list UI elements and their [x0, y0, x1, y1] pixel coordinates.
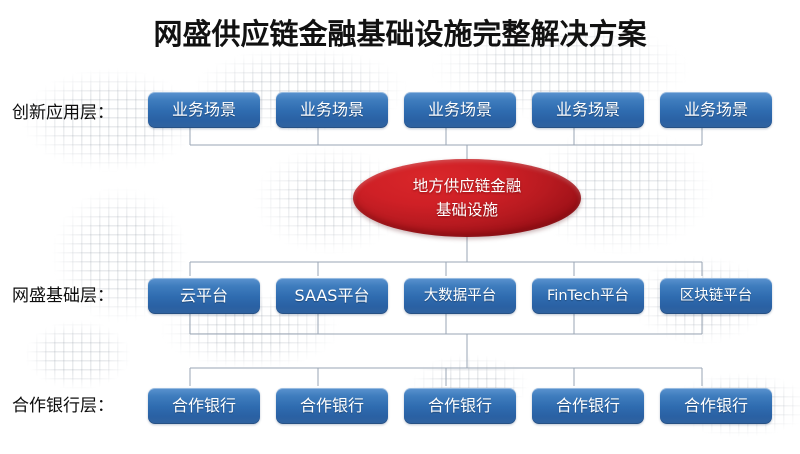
layer-label-partner-bank: 合作银行层： — [12, 396, 114, 416]
slide-canvas: 网盛供应链金融基础设施完整解决方案 — [0, 0, 800, 454]
node-label: 区块链平台 — [680, 287, 753, 305]
node-partner-bank-3[interactable]: 合作银行 — [404, 388, 516, 424]
node-blockchain-platform[interactable]: 区块链平台 — [660, 278, 772, 314]
node-label: SAAS平台 — [295, 287, 370, 305]
node-label: 大数据平台 — [424, 287, 497, 305]
node-label: 业务场景 — [300, 101, 364, 119]
node-business-scenario-4[interactable]: 业务场景 — [532, 92, 644, 128]
node-partner-bank-4[interactable]: 合作银行 — [532, 388, 644, 424]
node-label: 合作银行 — [172, 397, 236, 415]
node-label: 业务场景 — [556, 101, 620, 119]
layer-label-wangsheng-base: 网盛基础层： — [12, 286, 114, 306]
node-label: FinTech平台 — [547, 287, 629, 305]
node-label: 合作银行 — [556, 397, 620, 415]
node-label: 合作银行 — [300, 397, 364, 415]
node-partner-bank-1[interactable]: 合作银行 — [148, 388, 260, 424]
node-partner-bank-2[interactable]: 合作银行 — [276, 388, 388, 424]
node-label: 业务场景 — [428, 101, 492, 119]
node-business-scenario-3[interactable]: 业务场景 — [404, 92, 516, 128]
node-label: 业务场景 — [172, 101, 236, 119]
node-label: 业务场景 — [684, 101, 748, 119]
hub-line-1: 地方供应链金融 — [413, 174, 522, 198]
node-cloud-platform[interactable]: 云平台 — [148, 278, 260, 314]
node-business-scenario-2[interactable]: 业务场景 — [276, 92, 388, 128]
node-fintech-platform[interactable]: FinTech平台 — [532, 278, 644, 314]
central-hub-ellipse[interactable]: 地方供应链金融 基础设施 — [353, 159, 581, 237]
node-business-scenario-1[interactable]: 业务场景 — [148, 92, 260, 128]
page-title: 网盛供应链金融基础设施完整解决方案 — [0, 17, 800, 51]
node-partner-bank-5[interactable]: 合作银行 — [660, 388, 772, 424]
node-saas-platform[interactable]: SAAS平台 — [276, 278, 388, 314]
node-business-scenario-5[interactable]: 业务场景 — [660, 92, 772, 128]
node-label: 合作银行 — [684, 397, 748, 415]
node-bigdata-platform[interactable]: 大数据平台 — [404, 278, 516, 314]
hub-line-2: 基础设施 — [436, 198, 498, 222]
node-label: 合作银行 — [428, 397, 492, 415]
node-label: 云平台 — [180, 287, 228, 305]
layer-label-innovation: 创新应用层： — [12, 103, 114, 123]
